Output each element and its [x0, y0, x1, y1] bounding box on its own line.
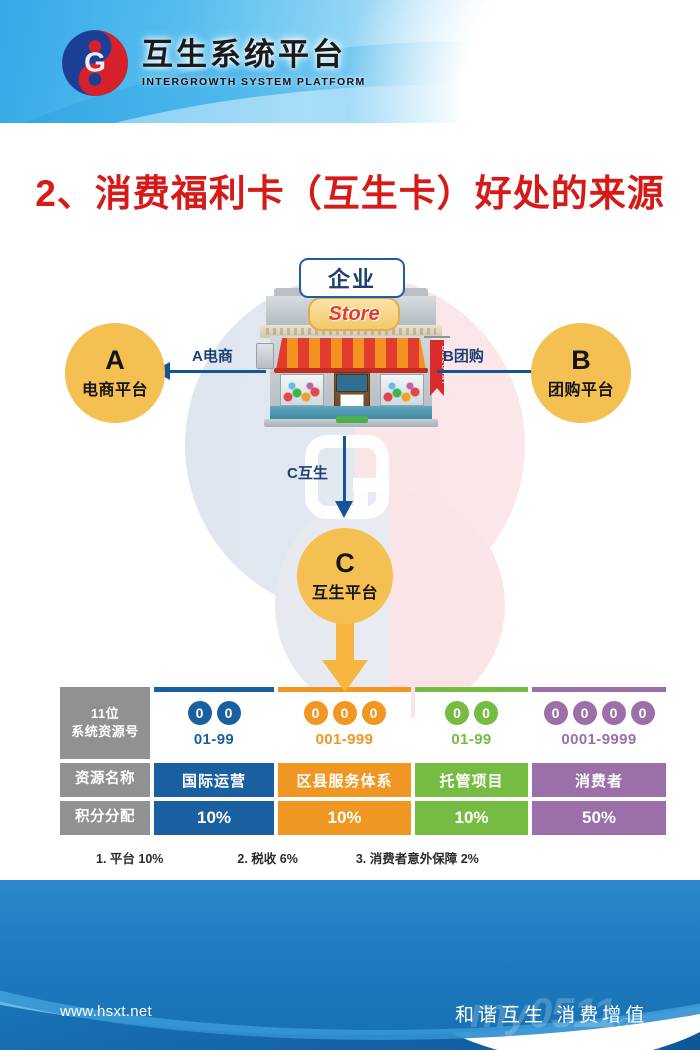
numcell-trust: 00 01-99: [415, 687, 528, 759]
footer-slogan: 和谐互生 消费增值: [455, 1000, 648, 1027]
resource-number-table: 11位 系统资源号 00 01-99 000 001-999 00 01-99 …: [60, 687, 640, 839]
node-c-letter: C: [335, 549, 355, 577]
row-header-line1: 11位: [91, 705, 119, 723]
node-c-label: 互生平台: [312, 579, 378, 603]
share-trust: 10%: [415, 801, 528, 835]
digit-placeholder: 0: [188, 701, 212, 725]
footnote-1: 1. 平台 10%: [96, 848, 163, 867]
digit-placeholder: 0: [304, 701, 328, 725]
arrow-to-c: [343, 436, 346, 502]
table-row-resource-name: 资源名称 国际运营 区县服务体系 托管项目 消费者: [60, 763, 640, 797]
row-header-points-allocation: 积分分配: [60, 801, 150, 835]
range-consumer: 0001-9999: [561, 731, 636, 748]
table-row-points-allocation: 积分分配 10% 10% 10% 50%: [60, 801, 640, 835]
topbar-international: [154, 687, 274, 692]
store-window-right: [380, 374, 424, 406]
digit-placeholder: 0: [474, 701, 498, 725]
digit-placeholder: 0: [544, 701, 568, 725]
range-international: 01-99: [194, 731, 234, 748]
node-b-letter: B: [571, 346, 591, 374]
topbar-trust: [415, 687, 528, 692]
poster-page: G 互生系统平台 INTERGROWTH SYSTEM PLATFORM 2、消…: [0, 0, 700, 1050]
name-district: 区县服务体系: [278, 763, 411, 797]
page-title: 2、消费福利卡（互生卡）好处的来源: [0, 163, 700, 217]
row-header-line2: 系统资源号: [71, 723, 139, 741]
node-a-letter: A: [105, 346, 125, 374]
digit-placeholder: 0: [631, 701, 655, 725]
row-header-resource-number: 11位 系统资源号: [60, 687, 150, 759]
arrow-label-a: A电商: [192, 345, 233, 366]
row-header-resource-name: 资源名称: [60, 763, 150, 797]
digits-international: 00: [188, 701, 241, 725]
arrow-label-b: B团购: [443, 345, 484, 366]
arrow-label-c: C互生: [287, 462, 328, 483]
numcell-consumer: 0000 0001-9999: [532, 687, 666, 759]
range-district: 001-999: [316, 731, 374, 748]
digits-trust: 00: [445, 701, 498, 725]
node-b-groupbuy[interactable]: B 团购平台: [531, 323, 631, 423]
table-row-resource-number: 11位 系统资源号 00 01-99 000 001-999 00 01-99 …: [60, 687, 640, 759]
digits-district: 000: [304, 701, 386, 725]
brand-text: 互生系统平台 INTERGROWTH SYSTEM PLATFORM: [142, 38, 366, 87]
footnote-2: 2. 税收 6%: [237, 848, 297, 867]
store-awning: [276, 338, 426, 370]
store-door-window: [336, 374, 368, 392]
name-trust: 托管项目: [415, 763, 528, 797]
digit-placeholder: 0: [333, 701, 357, 725]
store-ac-unit-icon: [256, 343, 274, 369]
brand-logo: G 互生系统平台 INTERGROWTH SYSTEM PLATFORM: [60, 28, 366, 98]
digit-placeholder: 0: [445, 701, 469, 725]
yinyang-g-logo-icon: G: [60, 28, 130, 98]
store-banner-pole: [424, 336, 450, 338]
name-consumer: 消费者: [532, 763, 666, 797]
numcell-district: 000 001-999: [278, 687, 411, 759]
range-trust: 01-99: [451, 731, 491, 748]
store-window-left: [280, 374, 324, 406]
page-footer: www.hsxt.net my0511 4 .COM 镇江网友之家 和谐互生 消…: [0, 880, 700, 1050]
footer-website-url[interactable]: www.hsxt.net: [60, 1003, 152, 1020]
store-goods-left: [283, 381, 321, 403]
store-door-mat: [336, 416, 368, 423]
digit-placeholder: 0: [217, 701, 241, 725]
arrow-to-b: [437, 370, 533, 373]
arrow-to-a: [170, 370, 266, 373]
node-b-label: 团购平台: [548, 376, 614, 400]
enterprise-box: 企业: [299, 258, 405, 298]
footnote-line-1: 1. 平台 10% 2. 税收 6% 3. 消费者意外保障 2%: [60, 848, 640, 867]
digit-placeholder: 0: [362, 701, 386, 725]
digit-placeholder: 0: [602, 701, 626, 725]
storefront-illustration: Store DISCOUNT: [256, 288, 446, 433]
share-district: 10%: [278, 801, 411, 835]
footnote-3: 3. 消费者意外保障 2%: [356, 848, 479, 867]
page-header: G 互生系统平台 INTERGROWTH SYSTEM PLATFORM: [0, 0, 700, 123]
share-international: 10%: [154, 801, 274, 835]
node-a-ecommerce[interactable]: A 电商平台: [65, 323, 165, 423]
share-consumer: 50%: [532, 801, 666, 835]
brand-name-cn: 互生系统平台: [142, 38, 366, 72]
store-goods-right: [383, 381, 421, 403]
node-a-label: 电商平台: [82, 376, 148, 400]
digit-placeholder: 0: [573, 701, 597, 725]
digits-consumer: 0000: [544, 701, 655, 725]
topbar-consumer: [532, 687, 666, 692]
name-international: 国际运营: [154, 763, 274, 797]
svg-text:G: G: [84, 46, 106, 77]
numcell-international: 00 01-99: [154, 687, 274, 759]
flow-diagram: 企业 Store DISCOUNT: [0, 240, 700, 690]
brand-name-en: INTERGROWTH SYSTEM PLATFORM: [142, 76, 366, 88]
header-white-glow: [310, 0, 700, 123]
node-c-intergrowth[interactable]: C 互生平台: [297, 528, 393, 624]
store-sign: Store: [308, 297, 400, 331]
